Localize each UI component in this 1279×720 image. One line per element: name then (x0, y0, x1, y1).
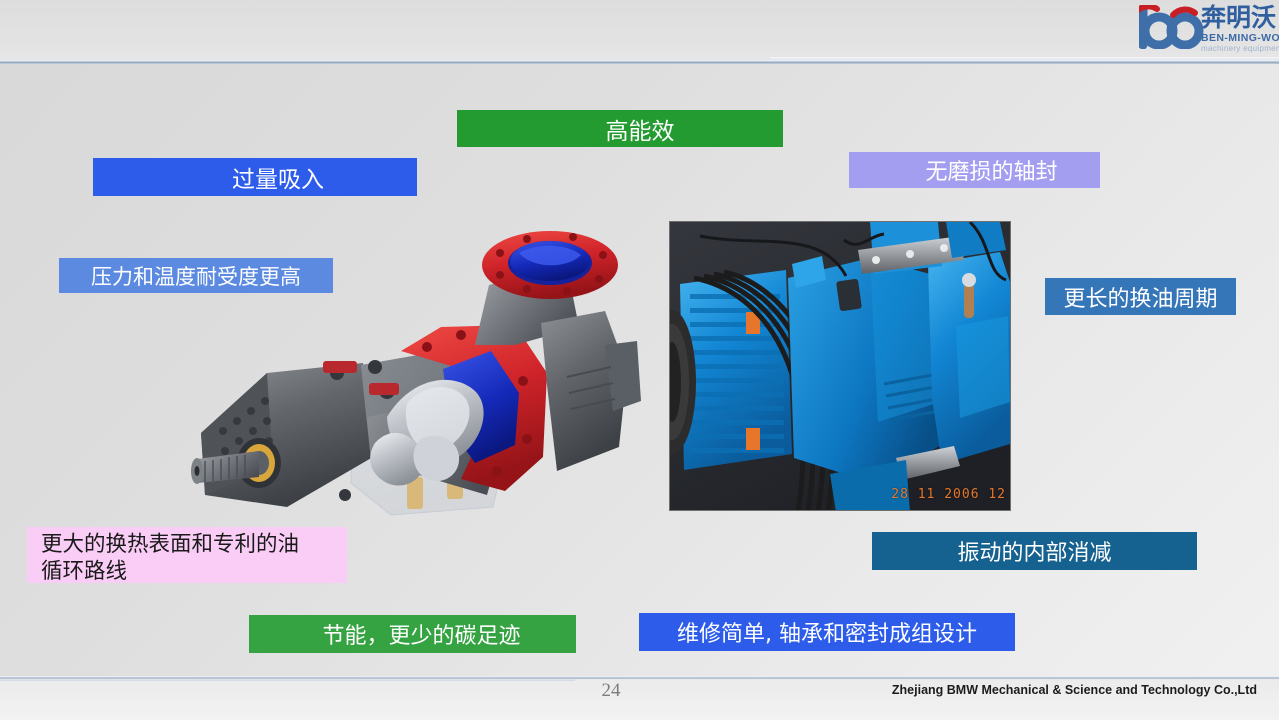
callout-internal-vibration-damping[interactable]: 振动的内部消减 (872, 532, 1197, 570)
company-logo: 奔明沃 BEN-MING-WO machinery equipment (1139, 2, 1279, 58)
callout-easy-maintenance[interactable]: 维修简单, 轴承和密封成组设计 (639, 613, 1015, 651)
callout-wearfree-seal[interactable]: 无磨损的轴封 (849, 152, 1100, 188)
callout-excess-intake[interactable]: 过量吸入 (93, 158, 417, 196)
screw-compressor-cad-render (175, 195, 645, 540)
logo-english-name: BEN-MING-WO (1201, 32, 1279, 44)
compressor-photo: 28 11 2006 12 (669, 221, 1011, 511)
header-divider-rule (0, 60, 1279, 64)
callout-energy-saving[interactable]: 节能，更少的碳足迹 (249, 615, 576, 653)
footer-divider-rule-secondary (0, 679, 575, 681)
callout-high-efficiency[interactable]: 高能效 (457, 110, 783, 147)
logo-chinese-name: 奔明沃 (1201, 4, 1276, 31)
compressor-photo-content (670, 222, 1011, 511)
company-name-footer: Zhejiang BMW Mechanical & Science and Te… (892, 683, 1257, 697)
page-number: 24 (596, 680, 626, 702)
logo-tagline: machinery equipment (1201, 44, 1279, 53)
presentation-slide: 奔明沃 BEN-MING-WO machinery equipment (0, 0, 1279, 720)
bo-monogram-icon (1139, 5, 1205, 49)
callout-longer-oil-change-interval[interactable]: 更长的换油周期 (1045, 278, 1236, 315)
slide-header (0, 0, 1279, 62)
callout-heat-exchange-surface[interactable]: 更大的换热表面和专利的油 循环路线 (27, 527, 347, 583)
callout-pressure-temperature[interactable]: 压力和温度耐受度更高 (59, 258, 333, 293)
photo-timestamp: 28 11 2006 12 (891, 487, 1006, 502)
